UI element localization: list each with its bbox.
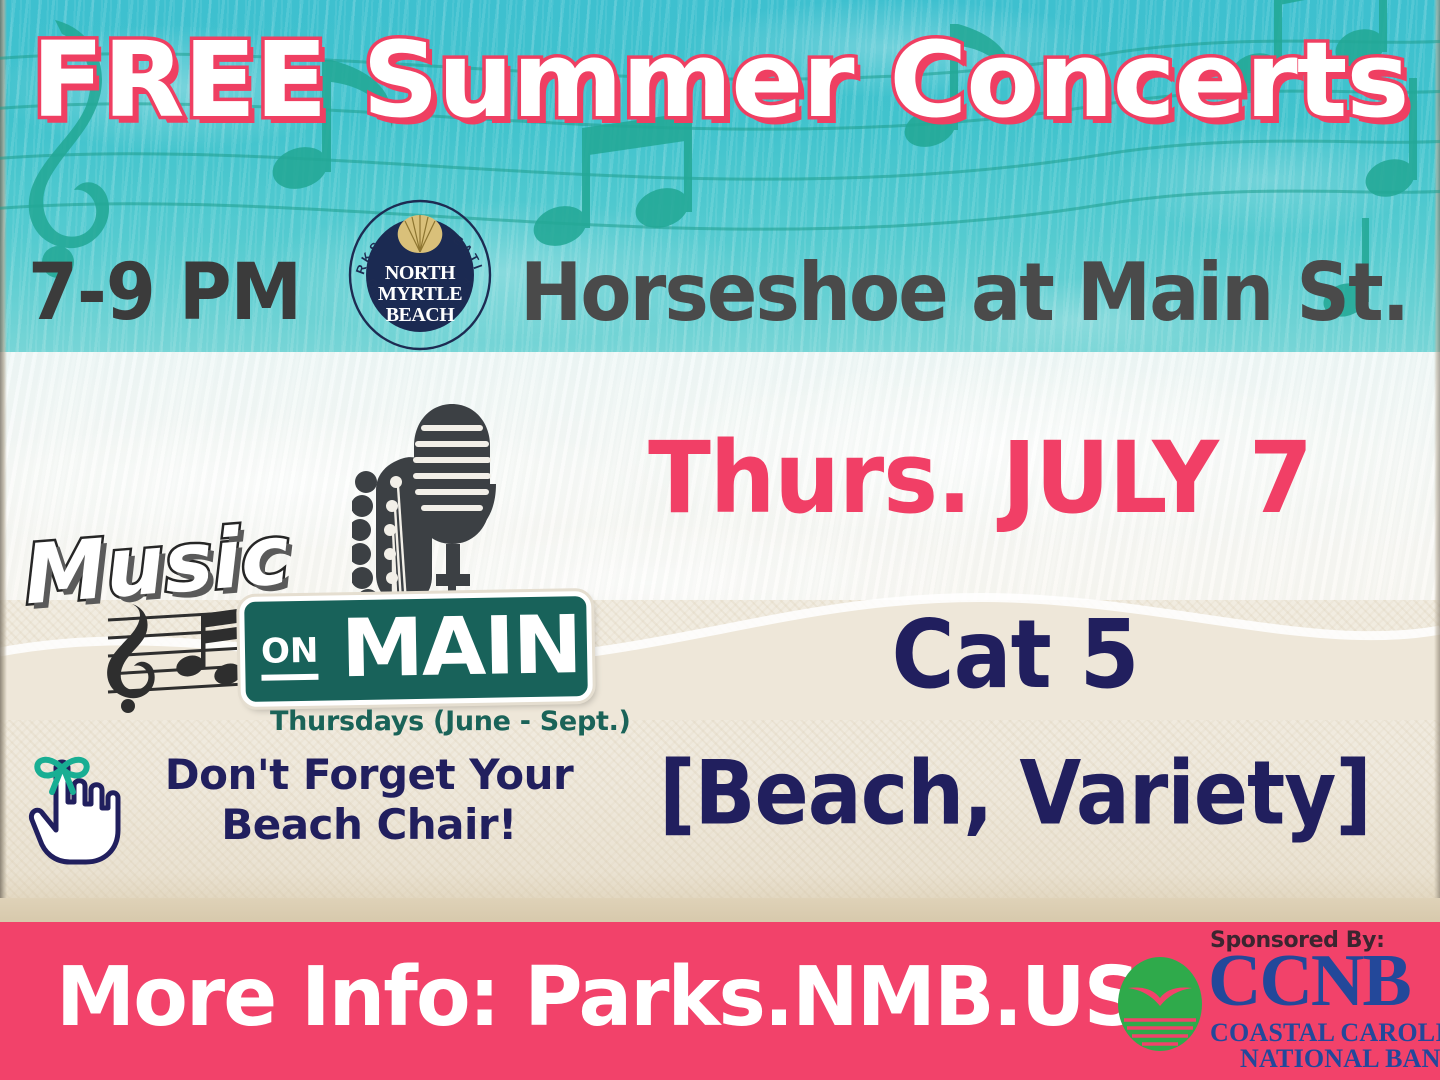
seal-line-3: BEACH xyxy=(386,304,456,326)
sponsor-block: Sponsored By: CCNB COASTAL CAROLINA NATI… xyxy=(1110,928,1430,1073)
bottom-sand-strip xyxy=(0,898,1440,922)
left-edge-shadow xyxy=(0,0,7,920)
event-date: Thurs. JULY 7 xyxy=(530,420,1430,536)
more-info-link[interactable]: More Info: Parks.NMB.US xyxy=(56,950,1139,1045)
event-location: Horseshoe at Main St. xyxy=(520,246,1408,339)
schedule-text: Thursdays (June - Sept.) xyxy=(270,706,590,737)
music-on-main-logo: Music xyxy=(14,398,614,738)
sponsor-initials: CCNB xyxy=(1208,946,1410,1016)
concert-flyer: FREE Summer Concerts 7-9 PM Horseshoe at… xyxy=(0,0,1440,1080)
reminder-line-1: Don't Forget Your xyxy=(165,750,574,799)
logo-word-on: ON xyxy=(261,631,319,681)
ccnb-seagull-logo-icon xyxy=(1110,954,1210,1054)
reminder-line-2: Beach Chair! xyxy=(221,800,517,849)
beach-chair-reminder: Don't Forget Your Beach Chair! xyxy=(26,742,596,872)
page-title: FREE Summer Concerts xyxy=(0,26,1440,135)
event-time: 7-9 PM xyxy=(28,248,301,338)
seal-line-1: NORTH xyxy=(385,262,456,284)
logo-word-main: MAIN xyxy=(340,598,581,695)
reminder-text: Don't Forget Your Beach Chair! xyxy=(134,750,604,849)
north-myrtle-beach-parks-seal-icon: PARKS & RECREATION COME OUT & PLAY! NORT… xyxy=(345,197,495,352)
sponsor-name-line-2: NATIONAL BANK xyxy=(1240,1044,1440,1074)
hand-with-ribbon-icon xyxy=(26,746,124,866)
footer-bar: More Info: Parks.NMB.US Sponsored By: CC… xyxy=(0,922,1440,1080)
band-name: Cat 5 xyxy=(600,600,1430,710)
seal-line-2: MYRTLE xyxy=(378,283,462,305)
band-genre: [Beach, Variety] xyxy=(600,742,1430,844)
right-edge-shadow xyxy=(1434,0,1440,920)
time-and-location-row: 7-9 PM Horseshoe at Main St. xyxy=(0,240,1440,360)
on-main-street-sign: ON MAIN xyxy=(239,591,593,707)
